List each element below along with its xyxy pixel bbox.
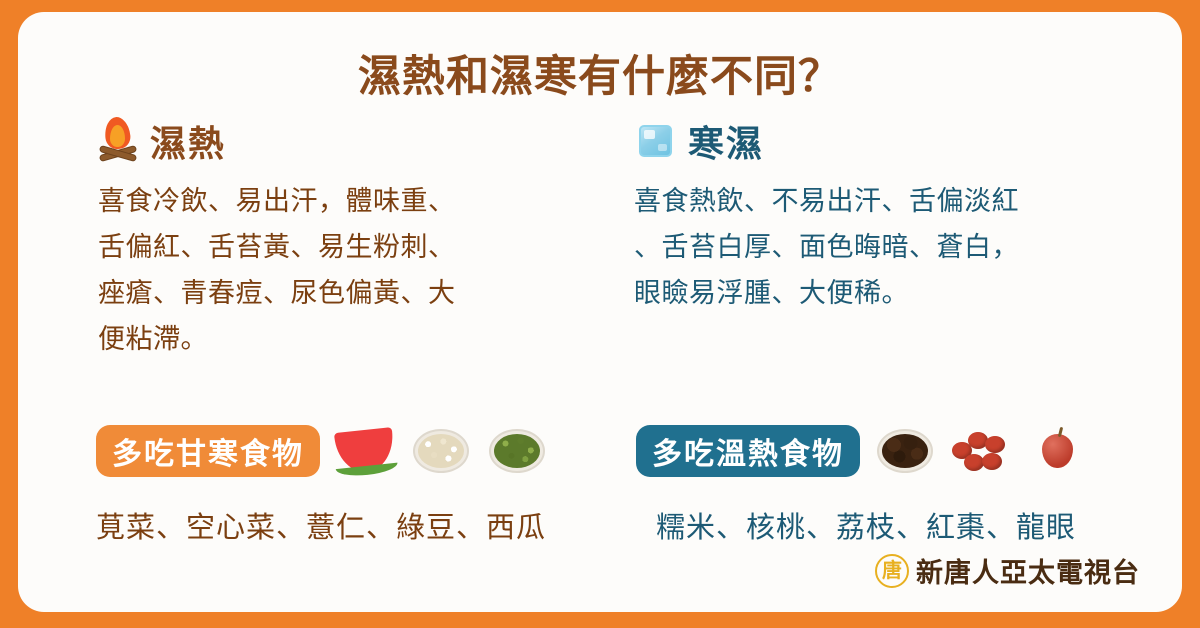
food-list-damp-heat: 莧菜、空心菜、薏仁、綠豆、西瓜 <box>96 504 546 546</box>
status-badge-eat-cooling: 多吃甘寒食物 <box>96 425 320 477</box>
symptom-line: 喜食熱飲、不易出汗、舌偏淡紅 <box>634 178 1154 224</box>
symptom-line: 眼瞼易浮腫、大便稀。 <box>634 270 1154 316</box>
column-cold-damp: 寒濕 喜食熱飲、不易出汗、舌偏淡紅 、舌苔白厚、面色晦暗、蒼白， 眼瞼易浮腫、大… <box>618 112 1158 316</box>
symptom-line: 舌偏紅、舌苔黃、易生粉刺、 <box>98 224 568 270</box>
food-image-strip-damp-heat <box>330 422 552 480</box>
mung-bean-bowl-photo <box>482 422 552 480</box>
food-image-strip-cold-damp <box>870 422 1092 480</box>
column-heading-cold-damp: 寒濕 <box>634 112 1158 170</box>
food-list-cold-damp: 糯米、核桃、荔枝、紅棗、龍眼 <box>656 504 1076 546</box>
symptom-line: 痤瘡、青春痘、尿色偏黃、大 <box>98 270 568 316</box>
job-tears-bowl-photo <box>406 422 476 480</box>
column-heading-label: 寒濕 <box>688 115 764 167</box>
column-heading-label: 濕熱 <box>150 115 226 167</box>
channel-logo: 唐 新唐人亞太電視台 <box>875 551 1140 590</box>
symptom-text-damp-heat: 喜食冷飲、易出汗，體味重、 舌偏紅、舌苔黃、易生粉刺、 痤瘡、青春痘、尿色偏黃、… <box>98 178 568 362</box>
column-damp-heat: 濕熱 喜食冷飲、易出汗，體味重、 舌偏紅、舌苔黃、易生粉刺、 痤瘡、青春痘、尿色… <box>80 112 600 362</box>
lychee-photo <box>1022 422 1092 480</box>
status-badge-eat-warming: 多吃溫熱食物 <box>636 425 860 477</box>
campfire-icon <box>96 117 140 165</box>
tang-seal-icon: 唐 <box>875 554 909 588</box>
recommendation-row-damp-heat: 多吃甘寒食物 <box>96 420 552 482</box>
symptom-line: 、舌苔白厚、面色晦暗、蒼白， <box>634 224 1154 270</box>
infographic-card: 濕熱和濕寒有什麼不同？ 濕熱 喜食冷飲、易出汗，體味重、 舌偏紅、舌苔黃、易生粉… <box>18 12 1182 612</box>
channel-name: 新唐人亞太電視台 <box>916 551 1140 590</box>
watermelon-wedge-photo <box>330 422 400 480</box>
symptom-line: 喜食冷飲、易出汗，體味重、 <box>98 178 568 224</box>
symptom-text-cold-damp: 喜食熱飲、不易出汗、舌偏淡紅 、舌苔白厚、面色晦暗、蒼白， 眼瞼易浮腫、大便稀。 <box>634 178 1154 316</box>
symptom-line: 便粘滯。 <box>98 316 568 362</box>
recommendation-row-cold-damp: 多吃溫熱食物 <box>636 420 1092 482</box>
page-title: 濕熱和濕寒有什麼不同？ <box>18 42 1182 104</box>
column-heading-damp-heat: 濕熱 <box>96 112 600 170</box>
walnut-plate-photo <box>870 422 940 480</box>
red-jujube-photo <box>946 422 1016 480</box>
ice-cube-icon <box>634 117 678 165</box>
infographic-frame: 濕熱和濕寒有什麼不同？ 濕熱 喜食冷飲、易出汗，體味重、 舌偏紅、舌苔黃、易生粉… <box>0 0 1200 628</box>
